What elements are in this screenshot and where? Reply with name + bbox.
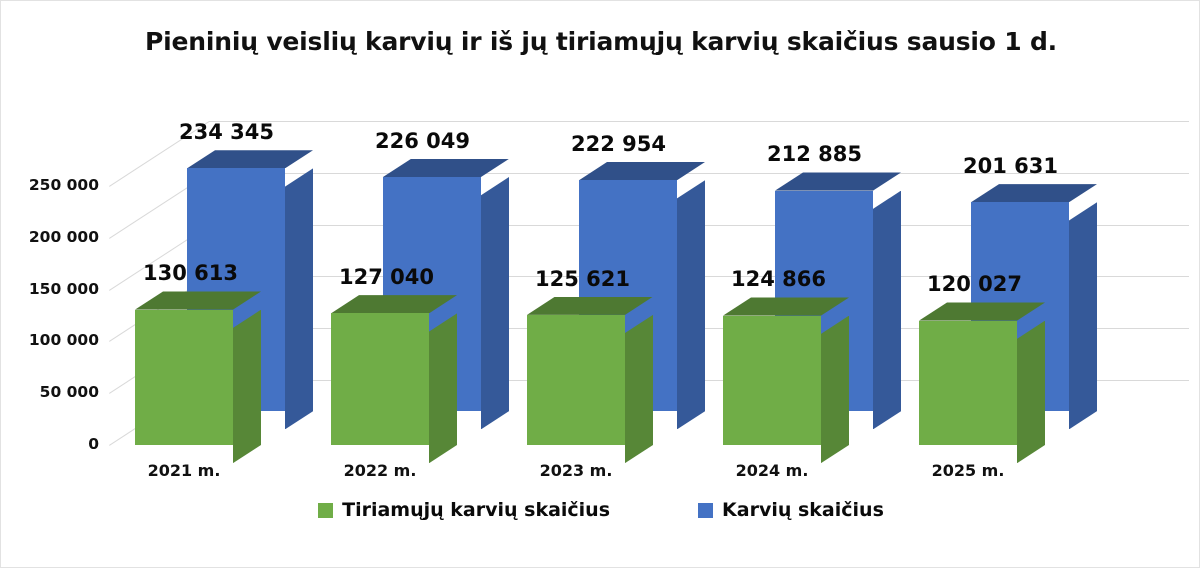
bar-value-label: 125 621 (535, 267, 630, 291)
gridline (109, 380, 210, 446)
bar-front-face (919, 321, 1017, 445)
bar-top-face (971, 184, 1097, 202)
legend-item-karviu-skaicius[interactable]: Karvių skaičius (698, 499, 884, 521)
bar-top-face (187, 150, 313, 168)
bar-value-label: 234 345 (179, 120, 274, 144)
x-axis-tick-label: 2023 m. (516, 461, 636, 480)
bar-value-label: 226 049 (375, 129, 470, 153)
x-axis-tick-label: 2025 m. (908, 461, 1028, 480)
bar-value-label: 222 954 (571, 132, 666, 156)
bar-side-face (873, 191, 901, 430)
y-axis-tick-label: 50 000 (7, 383, 99, 401)
bar-value-label: 120 027 (927, 272, 1022, 296)
x-axis-tick-label: 2024 m. (712, 461, 832, 480)
bar-side-face (481, 177, 509, 429)
bar-front-face (383, 177, 481, 411)
bar-top-face (579, 162, 705, 180)
bar-value-label: 127 040 (339, 265, 434, 289)
y-axis-tick-label: 100 000 (7, 331, 99, 349)
bar-front-face (187, 168, 285, 411)
gridline-back (209, 328, 1189, 329)
bar-side-face (625, 315, 653, 463)
bar-front-face (579, 180, 677, 411)
y-axis-tick-label: 0 (7, 435, 99, 453)
y-axis-tick-label: 200 000 (7, 228, 99, 246)
bar-value-label: 130 613 (143, 261, 238, 285)
bar-value-label: 212 885 (767, 142, 862, 166)
bar-side-face (429, 313, 457, 463)
legend-item-tiriamuju-karviu-skaicius[interactable]: Tiriamųjų karvių skaičius (318, 499, 610, 521)
bar-top-face (723, 297, 849, 315)
bar-value-label: 124 866 (731, 267, 826, 291)
bar-side-face (821, 316, 849, 464)
bar-top-face (919, 302, 1045, 320)
chart-legend: Tiriamųjų karvių skaičiusKarvių skaičius (1, 499, 1200, 521)
chart-container: Pieninių veislių karvių ir iš jų tiriamų… (0, 0, 1200, 568)
gridline (109, 276, 210, 342)
bar-front-face (135, 310, 233, 445)
bar-side-face (677, 180, 705, 429)
bar-side-face (285, 168, 313, 429)
x-axis-tick-label: 2021 m. (124, 461, 244, 480)
bar-side-face (1017, 321, 1045, 464)
bar-top-face (775, 172, 901, 190)
gridline (109, 173, 210, 239)
bar-top-face (135, 291, 261, 309)
gridline-back (209, 380, 1189, 381)
legend-swatch-icon (318, 503, 333, 518)
gridline-back (209, 121, 1189, 122)
legend-label: Tiriamųjų karvių skaičius (342, 499, 610, 521)
bar-value-label: 201 631 (963, 154, 1058, 178)
y-axis-tick-label: 250 000 (7, 176, 99, 194)
legend-swatch-icon (698, 503, 713, 518)
bar-top-face (331, 295, 457, 313)
x-axis-tick-label: 2022 m. (320, 461, 440, 480)
bar-side-face (233, 310, 261, 464)
gridline (109, 328, 210, 394)
bar-top-face (383, 159, 509, 177)
gridline-back (209, 225, 1189, 226)
y-axis-tick-label: 150 000 (7, 280, 99, 298)
chart-title: Pieninių veislių karvių ir iš jų tiriamų… (1, 27, 1200, 56)
legend-label: Karvių skaičius (722, 499, 884, 521)
bar-top-face (527, 297, 653, 315)
bar-side-face (1069, 202, 1097, 429)
